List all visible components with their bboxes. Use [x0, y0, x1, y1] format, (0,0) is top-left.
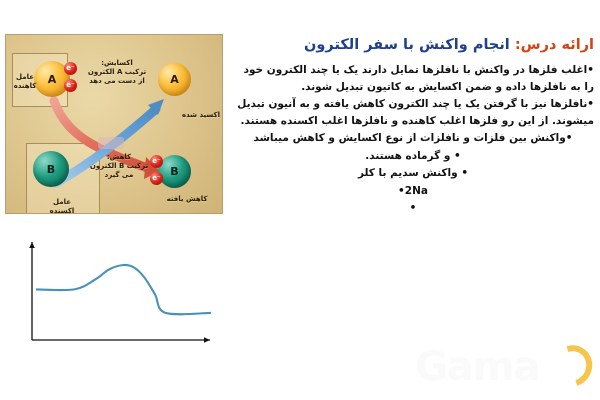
electron-icon: e⁻ — [64, 79, 77, 92]
watermark-swoosh-icon — [544, 338, 599, 394]
energy-profile-chart — [6, 232, 218, 354]
electron-transfer-diagram: A A B B e⁻ e⁻ e⁻ e⁻ عامل کاهنده عامل اکس… — [5, 22, 223, 214]
x-axis-arrowhead — [204, 337, 210, 343]
label-oxidized: اکسید شده — [166, 111, 220, 120]
page-title-rest: انجام واکنش با سفر الکترون — [304, 37, 515, 53]
chart-axes — [29, 242, 210, 343]
label-reduced: کاهش یافته — [158, 195, 216, 204]
slide-canvas: A A B B e⁻ e⁻ e⁻ e⁻ عامل کاهنده عامل اکس… — [0, 0, 600, 400]
body-paragraph-2: •نافلزها نیز با گرفتن یک یا چند الکترون … — [232, 96, 594, 129]
watermark-text: Gama — [415, 347, 540, 387]
label-oxidation: اکسایش: ترکیب A الکترون از دست می دهد — [84, 59, 150, 86]
body-paragraph-5: • واکنش سدیم با کلر — [232, 165, 594, 182]
page-title-lead: ارائه درس: — [515, 37, 594, 53]
electron-icon: e⁻ — [150, 155, 163, 168]
watermark: Gama — [415, 345, 590, 393]
page-title: ارائه درس: انجام واکنش با سفر الکترون — [232, 36, 594, 55]
sphere-a-label: A — [170, 73, 179, 86]
label-oxidizing-agent: عامل اکسنده — [36, 198, 88, 214]
label-reduction: کاهش: ترکیب B الکترون می گیرد — [88, 153, 150, 180]
diagram-panel: A A B B e⁻ e⁻ e⁻ e⁻ عامل کاهنده عامل اکس… — [5, 34, 223, 214]
y-axis-arrowhead — [29, 242, 35, 248]
body-paragraph-4: • و گرماده هستند. — [232, 148, 594, 165]
formula-2na: 2Na• — [232, 183, 594, 200]
sphere-a-label: A — [48, 73, 57, 86]
label-reducing-agent: عامل کاهنده — [7, 73, 43, 91]
body-paragraph-1: •اغلب فلزها در واکنش با نافلزها تمایل دا… — [232, 62, 594, 95]
body-paragraph-empty-bullet: • — [232, 200, 594, 217]
sphere-b-label: B — [170, 165, 178, 178]
sphere-b-label: B — [47, 163, 55, 176]
energy-profile-curve — [36, 265, 211, 314]
content-column: ارائه درس: انجام واکنش با سفر الکترون •ا… — [232, 36, 594, 218]
electron-icon: e⁻ — [64, 62, 77, 75]
body-paragraph-3: •واکنش بین فلزات و نافلزات از نوع اکسایش… — [232, 130, 594, 147]
arrow-crossing-highlight — [98, 137, 124, 149]
sphere-a-product: A — [158, 63, 191, 96]
electron-icon: e⁻ — [150, 172, 163, 185]
sphere-b-reactant: B — [33, 151, 69, 187]
